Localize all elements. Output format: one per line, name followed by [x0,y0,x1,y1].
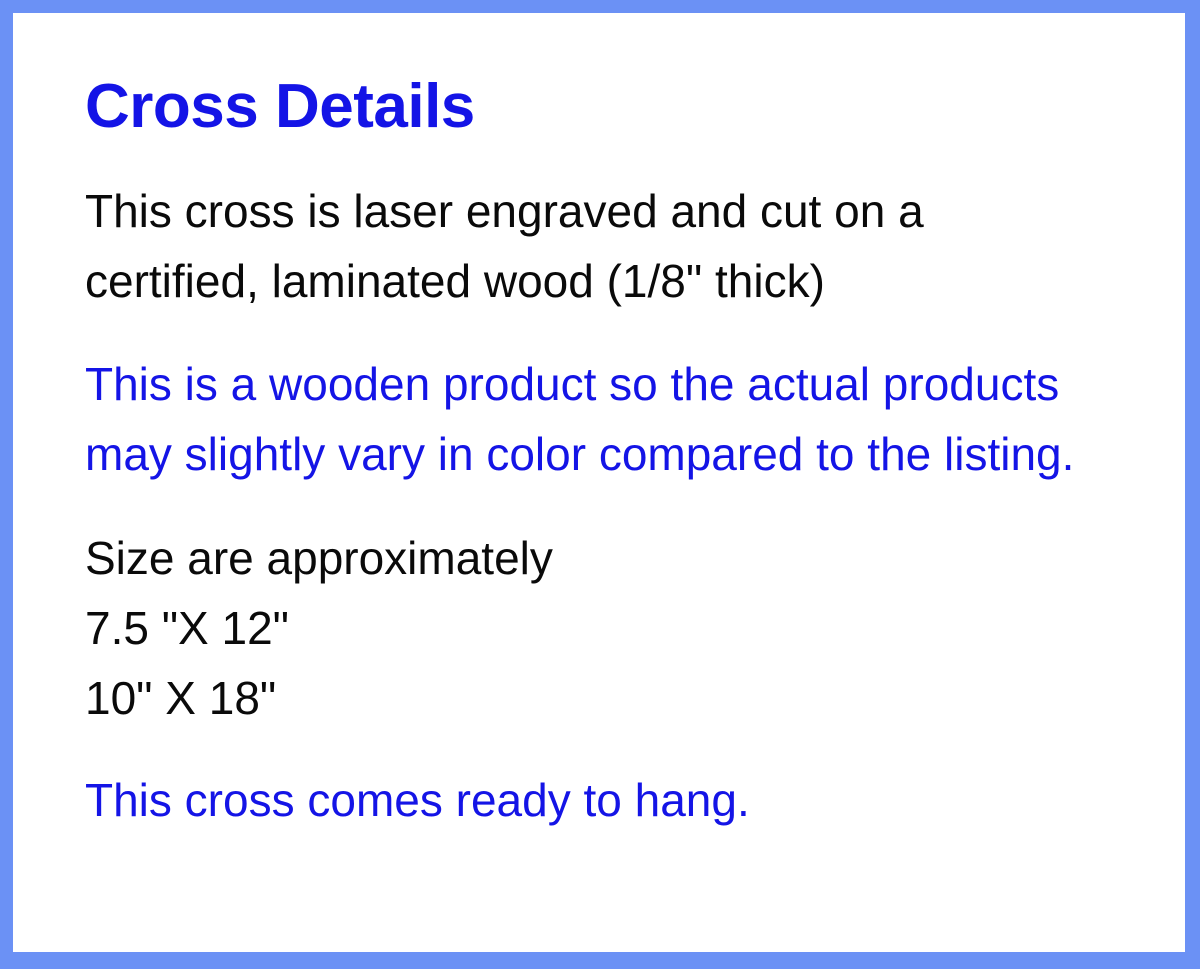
color-disclaimer-paragraph: This is a wooden product so the actual p… [85,349,1177,489]
spacer-after-title [85,138,1177,176]
size-block: Size are approximately 7.5 "X 12" 10" X … [85,523,1177,733]
hanging-note: This cross comes ready to hang. [85,765,1177,835]
card-inner-panel: Cross Details This cross is laser engrav… [13,13,1185,952]
size-heading: Size are approximately [85,523,1177,593]
size-option-small: 7.5 "X 12" [85,593,1177,663]
material-paragraph: This cross is laser engraved and cut on … [85,176,1177,316]
details-content: Cross Details This cross is laser engrav… [85,76,1177,835]
size-option-large: 10" X 18" [85,663,1177,733]
page-title: Cross Details [85,76,1177,138]
spacer-after-sizes [85,733,1177,765]
spacer-after-material [85,316,1177,349]
spacer-after-disclaimer [85,489,1177,523]
cross-details-card: Cross Details This cross is laser engrav… [0,0,1200,969]
